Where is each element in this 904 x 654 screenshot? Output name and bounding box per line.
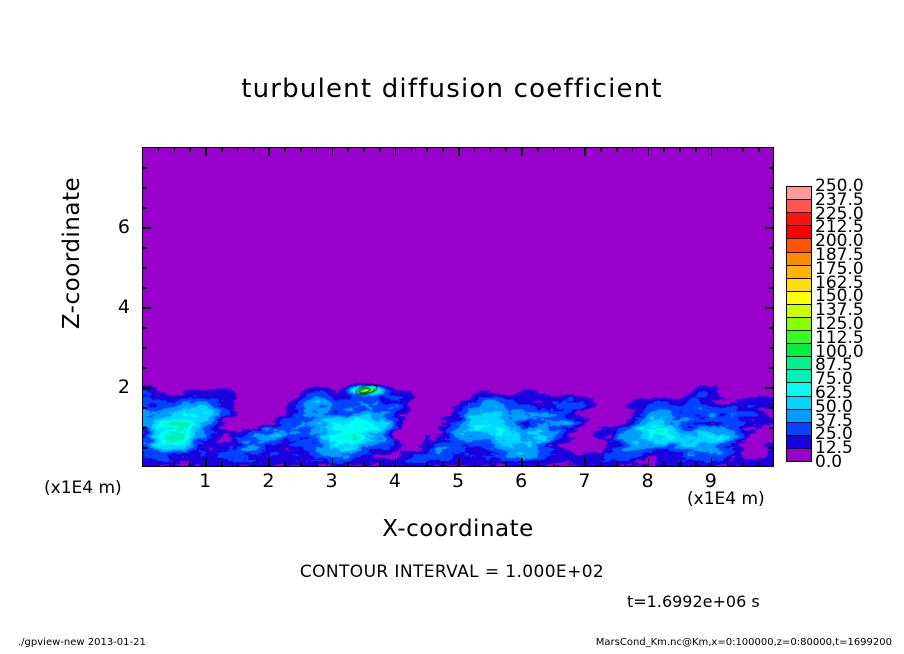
- colorbar-swatch: [787, 253, 811, 266]
- axis-tick: [379, 147, 381, 152]
- axis-tick: [769, 187, 774, 189]
- axis-tick: [490, 462, 492, 467]
- axis-tick: [711, 147, 713, 156]
- axis-tick: [363, 462, 365, 467]
- axis-tick: [189, 462, 191, 467]
- colorbar-swatch: [787, 318, 811, 331]
- axis-tick: [569, 147, 571, 152]
- colorbar-swatch: [787, 357, 811, 370]
- axis-tick: [742, 147, 744, 152]
- axis-tick: [769, 267, 774, 269]
- axis-tick: [769, 207, 774, 209]
- axis-tick: [395, 147, 397, 156]
- axis-tick: [521, 147, 523, 156]
- colorbar: [786, 186, 812, 462]
- axis-tick: [742, 462, 744, 467]
- axis-tick: [379, 462, 381, 467]
- axis-tick: [411, 462, 413, 467]
- axis-tick: [711, 458, 713, 467]
- axis-tick: [142, 367, 147, 369]
- axis-tick: [537, 462, 539, 467]
- page-title: turbulent diffusion coefficient: [0, 74, 904, 104]
- x-tick-label: 3: [312, 470, 352, 492]
- axis-tick: [727, 147, 729, 152]
- axis-tick: [769, 327, 774, 329]
- turbulence-field-canvas: [143, 148, 773, 466]
- colorbar-swatch: [787, 344, 811, 357]
- axis-tick: [695, 147, 697, 152]
- x-axis-unit-label: (x1E4 m): [687, 489, 765, 509]
- axis-tick: [332, 147, 334, 156]
- axis-tick: [679, 462, 681, 467]
- axis-tick: [142, 207, 147, 209]
- axis-tick: [600, 147, 602, 152]
- time-stamp-label: t=1.6992e+06 s: [627, 592, 760, 611]
- axis-tick: [253, 147, 255, 152]
- footer-command-label: ./gpview-new 2013-01-21: [18, 637, 146, 648]
- axis-tick: [632, 147, 634, 152]
- colorbar-swatch: [787, 292, 811, 305]
- axis-tick: [158, 147, 160, 152]
- axis-tick: [237, 462, 239, 467]
- axis-tick: [521, 458, 523, 467]
- axis-tick: [174, 147, 176, 152]
- axis-tick: [142, 327, 147, 329]
- x-tick-label: 4: [375, 470, 415, 492]
- axis-tick: [490, 147, 492, 152]
- axis-tick: [142, 227, 151, 229]
- axis-tick: [142, 427, 147, 429]
- axis-tick: [765, 307, 774, 309]
- colorbar-swatch: [787, 239, 811, 252]
- colorbar-swatch: [787, 331, 811, 344]
- axis-tick: [769, 407, 774, 409]
- axis-tick: [142, 187, 147, 189]
- axis-tick: [174, 462, 176, 467]
- axis-tick: [505, 147, 507, 152]
- colorbar-swatch: [787, 200, 811, 213]
- colorbar-swatch: [787, 305, 811, 318]
- axis-tick: [268, 458, 270, 467]
- axis-tick: [505, 462, 507, 467]
- colorbar-swatch: [787, 370, 811, 383]
- axis-tick: [142, 307, 151, 309]
- axis-tick: [648, 458, 650, 467]
- axis-tick: [411, 147, 413, 152]
- axis-tick: [205, 458, 207, 467]
- axis-tick: [458, 458, 460, 467]
- axis-tick: [537, 147, 539, 152]
- y-tick-label: 6: [104, 216, 130, 238]
- y-tick-label: 4: [104, 296, 130, 318]
- colorbar-swatch: [787, 397, 811, 410]
- axis-tick: [142, 387, 151, 389]
- axis-tick: [442, 462, 444, 467]
- axis-tick: [769, 367, 774, 369]
- axis-tick: [769, 247, 774, 249]
- axis-tick: [142, 287, 147, 289]
- x-axis-title: X-coordinate: [142, 516, 774, 542]
- contour-plot-area: [142, 147, 774, 467]
- axis-tick: [727, 462, 729, 467]
- axis-tick: [332, 458, 334, 467]
- axis-tick: [616, 147, 618, 152]
- axis-tick: [221, 147, 223, 152]
- axis-tick: [458, 147, 460, 156]
- axis-tick: [474, 147, 476, 152]
- axis-tick: [300, 147, 302, 152]
- axis-tick: [663, 147, 665, 152]
- axis-tick: [569, 462, 571, 467]
- x-tick-label: 1: [185, 470, 225, 492]
- axis-tick: [769, 167, 774, 169]
- axis-tick: [158, 462, 160, 467]
- axis-tick: [663, 462, 665, 467]
- axis-tick: [347, 462, 349, 467]
- x-tick-label: 2: [248, 470, 288, 492]
- y-axis-unit-label: (x1E4 m): [44, 478, 122, 498]
- axis-tick: [616, 462, 618, 467]
- axis-tick: [426, 462, 428, 467]
- axis-tick: [142, 447, 147, 449]
- axis-tick: [221, 462, 223, 467]
- axis-tick: [347, 147, 349, 152]
- y-tick-label: 2: [104, 376, 130, 398]
- colorbar-swatch: [787, 213, 811, 226]
- colorbar-swatch: [787, 449, 811, 461]
- axis-tick: [584, 147, 586, 156]
- axis-tick: [142, 407, 147, 409]
- axis-tick: [142, 247, 147, 249]
- x-tick-label: 6: [501, 470, 541, 492]
- axis-tick: [189, 147, 191, 152]
- axis-tick: [426, 147, 428, 152]
- axis-tick: [584, 458, 586, 467]
- colorbar-tick-labels: 250.0237.5225.0212.5200.0187.5175.0162.5…: [815, 180, 895, 470]
- x-tick-label: 7: [564, 470, 604, 492]
- axis-tick: [268, 147, 270, 156]
- axis-tick: [442, 147, 444, 152]
- axis-tick: [632, 462, 634, 467]
- colorbar-tick-label: 0.0: [815, 454, 842, 471]
- axis-tick: [316, 462, 318, 467]
- colorbar-swatch: [787, 187, 811, 200]
- axis-tick: [769, 427, 774, 429]
- axis-tick: [769, 447, 774, 449]
- axis-tick: [474, 462, 476, 467]
- colorbar-swatch: [787, 279, 811, 292]
- axis-tick: [395, 458, 397, 467]
- colorbar-swatch: [787, 226, 811, 239]
- axis-tick: [142, 267, 147, 269]
- axis-tick: [363, 147, 365, 152]
- axis-tick: [553, 147, 555, 152]
- axis-tick: [142, 167, 147, 169]
- axis-tick: [758, 147, 760, 152]
- axis-tick: [300, 462, 302, 467]
- footer-dataset-label: MarsCond_Km.nc@Km,x=0:100000,z=0:80000,t…: [596, 637, 892, 648]
- axis-tick: [765, 227, 774, 229]
- axis-tick: [237, 147, 239, 152]
- axis-tick: [205, 147, 207, 156]
- axis-tick: [648, 147, 650, 156]
- axis-tick: [284, 147, 286, 152]
- axis-tick: [284, 462, 286, 467]
- x-tick-label: 8: [628, 470, 668, 492]
- colorbar-swatch: [787, 410, 811, 423]
- axis-tick: [600, 462, 602, 467]
- axis-tick: [769, 287, 774, 289]
- axis-tick: [142, 347, 147, 349]
- colorbar-swatch: [787, 423, 811, 436]
- axis-tick: [765, 387, 774, 389]
- axis-tick: [553, 462, 555, 467]
- axis-tick: [316, 147, 318, 152]
- colorbar-swatch: [787, 383, 811, 396]
- y-axis-title: Z-coordinate: [59, 143, 85, 363]
- axis-tick: [769, 347, 774, 349]
- axis-tick: [758, 462, 760, 467]
- colorbar-swatch: [787, 436, 811, 449]
- contour-interval-label: CONTOUR INTERVAL = 1.000E+02: [0, 562, 904, 582]
- x-tick-label: 5: [438, 470, 478, 492]
- axis-tick: [679, 147, 681, 152]
- axis-tick: [695, 462, 697, 467]
- axis-tick: [253, 462, 255, 467]
- colorbar-swatch: [787, 266, 811, 279]
